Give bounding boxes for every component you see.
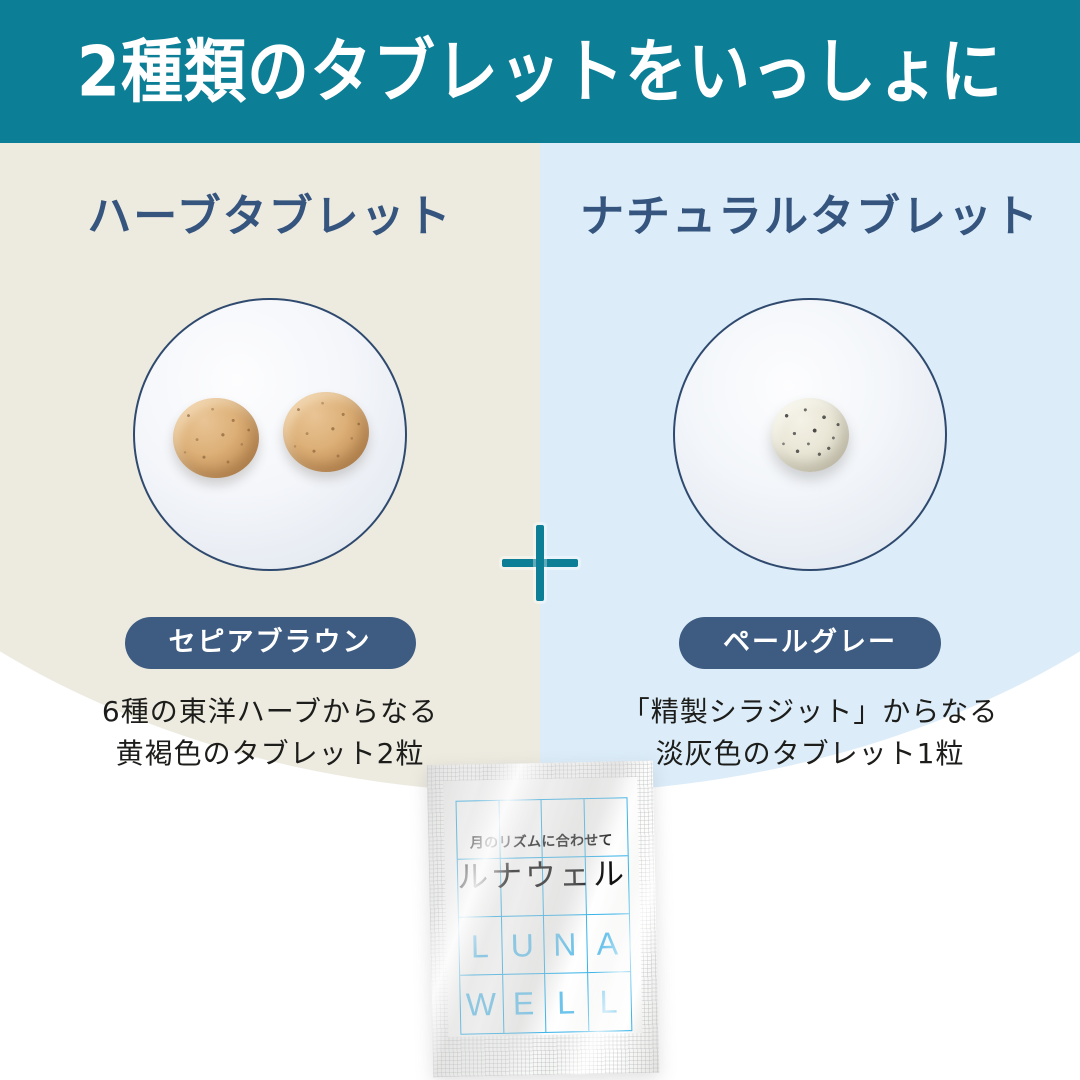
sachet-letter: L [458, 930, 501, 963]
column-heading-herb: ハーブタブレット [87, 195, 452, 239]
plus-icon-vertical-bar [536, 525, 544, 601]
natural-tablet-1 [771, 398, 849, 472]
description-natural-line-1: 「精製シラジット」からなる [622, 691, 998, 733]
description-herb-line-1: 6種の東洋ハーブからなる [102, 691, 438, 733]
column-herb-tablet: ハーブタブレット セピアブラウン 6種の東洋ハーブからなる 黄褐色のタブレット2… [0, 143, 540, 803]
plus-icon [502, 525, 578, 601]
herb-tablet-2 [283, 392, 369, 472]
natural-tablet-photo [673, 298, 947, 572]
sachet-letter: L [544, 986, 587, 1019]
status-badge-sepia-brown: セピアブラウン [125, 617, 416, 669]
sachet-letter: N [543, 928, 586, 961]
description-natural-line-2: 淡灰色のタブレット1粒 [622, 733, 998, 775]
sachet-letter: E [502, 987, 545, 1020]
panel-backgrounds: ハーブタブレット セピアブラウン 6種の東洋ハーブからなる 黄褐色のタブレット2… [0, 143, 1080, 803]
sachet-letter: A [586, 927, 629, 960]
description-herb-line-2: 黄褐色のタブレット2粒 [102, 733, 438, 775]
description-herb: 6種の東洋ハーブからなる 黄褐色のタブレット2粒 [102, 691, 438, 775]
sachet-letter: W [459, 988, 502, 1021]
sachet-letter: U [501, 929, 544, 962]
sachet-letter: L [587, 985, 630, 1018]
herb-tablets-photo [133, 298, 407, 572]
header-banner: 2種類のタブレットをいっしょに [0, 0, 1080, 143]
sachet-brand-line-well: W E L L [459, 985, 630, 1021]
sachet-tagline: 月のリズムに合わせて [456, 833, 626, 851]
page-title: 2種類のタブレットをいっしょに [77, 37, 1003, 106]
herb-tablet-1 [173, 398, 259, 478]
column-heading-natural: ナチュラルタブレット [580, 195, 1040, 239]
description-natural: 「精製シラジット」からなる 淡灰色のタブレット1粒 [622, 691, 998, 775]
sachet-brand-name-jp: ルナウェル [457, 859, 628, 894]
column-natural-tablet: ナチュラルタブレット ペールグレー 「精製シラジット」からなる 淡灰色のタブレッ… [540, 143, 1080, 803]
sachet-brand-line-luna: L U N A [458, 927, 629, 963]
product-sachet: 月のリズムに合わせて ルナウェル L U N A W E L L [427, 761, 659, 1078]
status-badge-pale-grey: ペールグレー [679, 617, 941, 669]
